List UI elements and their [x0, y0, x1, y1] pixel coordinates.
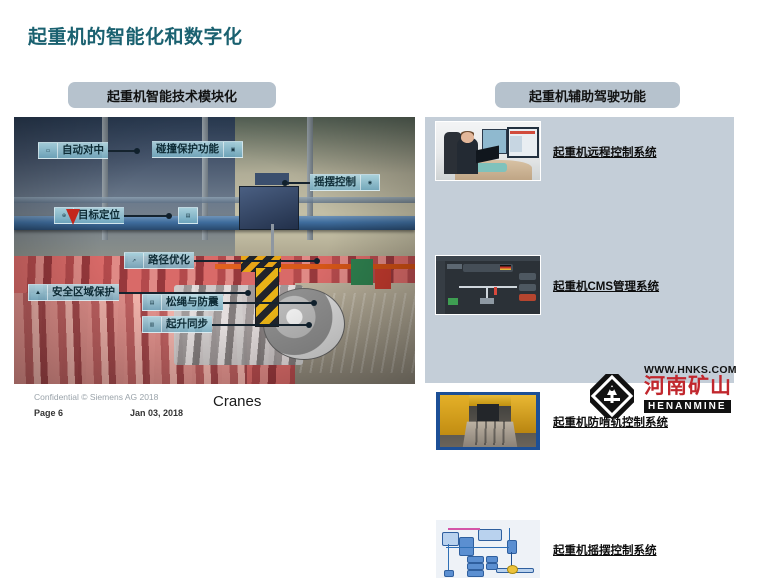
slide-canvas: 起重机的智能化和数字化 起重机智能技术模块化 起重机辅助驾驶功能 — [0, 0, 760, 427]
logo-english-name: HENANMINE — [644, 400, 731, 413]
assist-item-label: 起重机远程控制系统 — [553, 144, 725, 160]
section-header-right: 起重机辅助驾驶功能 — [495, 82, 680, 108]
company-logo: WWW.HNKS.COM 河南矿山 HENANMINE — [586, 364, 758, 422]
slide-date: Jan 03, 2018 — [130, 408, 183, 418]
assist-item-rail-guidance[interactable]: 起重机防啃轨控制系统 — [425, 253, 734, 315]
factory-crane-photo — [14, 117, 415, 384]
section-header-left: 起重机智能技术模块化 — [68, 82, 276, 108]
crane-rail-thumbnail — [435, 391, 541, 451]
crane-technology-photo-panel: ▭ 自动对中 碰撞保护功能 ▣ ◉ 摇摆控制 ⊕ 目标定位 ▤ ↗ 路径优化 ⛰ — [14, 117, 415, 384]
section-header-right-label: 起重机辅助驾驶功能 — [529, 86, 646, 105]
section-header-left-label: 起重机智能技术模块化 — [107, 86, 237, 105]
target-positioning-arrow-icon — [66, 209, 80, 225]
assist-item-remote-control[interactable]: 起重机远程控制系统 — [425, 119, 734, 181]
footer-topic: Cranes — [213, 393, 261, 410]
henanmine-diamond-icon — [590, 374, 634, 418]
sway-control-diagram-thumbnail — [435, 519, 541, 579]
confidential-notice: Confidential © Siemens AG 2018 — [34, 392, 158, 402]
remote-desk-thumbnail — [435, 121, 541, 181]
assist-functions-panel: 起重机远程控制系统 起重机CMS管理系统 — [425, 117, 734, 383]
page-title: 起重机的智能化和数字化 — [28, 22, 243, 49]
page-number: Page 6 — [34, 408, 63, 418]
assist-item-label: 起重机摇摆控制系统 — [553, 542, 725, 558]
logo-chinese-name: 河南矿山 — [644, 376, 732, 398]
assist-item-cms[interactable]: 起重机CMS管理系统 — [425, 185, 734, 247]
